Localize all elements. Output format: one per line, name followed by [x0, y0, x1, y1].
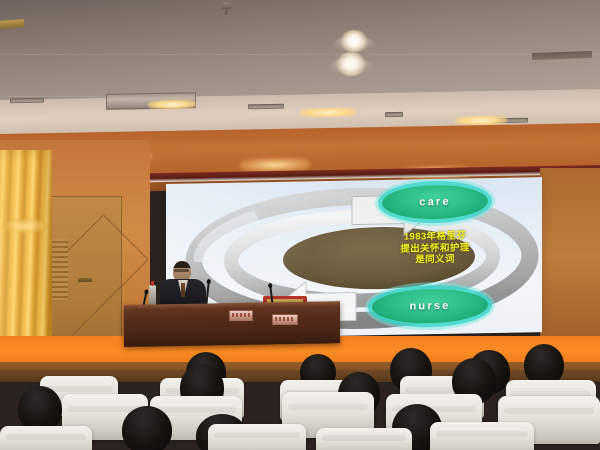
speaker-tie: [181, 283, 185, 297]
audience-head: [122, 406, 172, 450]
ceiling-speaker-icon: [10, 98, 44, 104]
linear-light-icon: [300, 107, 356, 117]
glasses-icon: [174, 269, 189, 272]
curtain-tieback: [2, 218, 48, 234]
audience-chair: [430, 422, 534, 450]
audience-chair: [0, 426, 92, 450]
audience-area: [0, 330, 600, 450]
name-card: [272, 314, 298, 325]
audience-chair: [316, 428, 412, 450]
slide-bubble-nurse-label: nurse: [410, 300, 451, 313]
lecture-hall-photo: care 1983年格里芬 提出关怀和护理 是同义词 nurse: [0, 0, 600, 450]
name-card: [229, 310, 253, 321]
slide-body-text: 1983年格里芬 提出关怀和护理 是同义词: [371, 230, 499, 267]
slide-body-line-3: 是同义词: [371, 253, 499, 267]
downlight-halo: [332, 36, 376, 52]
downlight-halo: [328, 58, 374, 74]
slide-bubble-care-label: care: [419, 196, 450, 209]
linear-light-icon: [148, 100, 196, 110]
sprinkler-head-icon: [222, 2, 231, 9]
ceiling-vent-icon: [0, 19, 24, 29]
audience-chair: [208, 424, 306, 450]
ceiling-speaker-icon: [385, 112, 403, 117]
table-top-edge: [124, 301, 340, 310]
wall-grille-icon: [52, 238, 68, 300]
door-handle-icon[interactable]: [78, 278, 92, 282]
ceiling-speaker-icon: [248, 104, 284, 110]
